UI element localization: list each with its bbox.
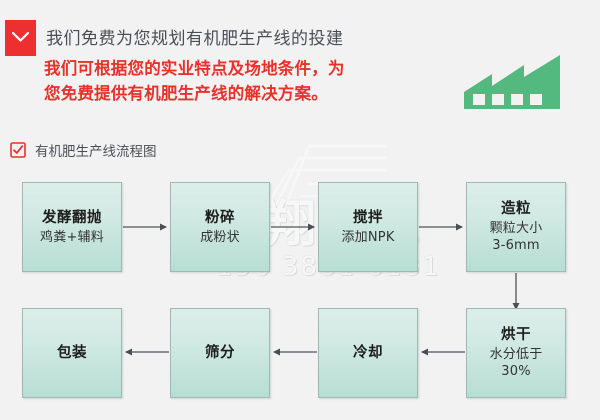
flow-node-fensui[interactable]: 粉碎 成粉状: [170, 182, 270, 272]
flow-node-sub: 颗粒大小: [490, 220, 543, 237]
flow-node-title: 筛分: [205, 344, 235, 363]
flow-node-sub2: 30%: [501, 363, 531, 380]
flow-node-baozhuang[interactable]: 包装: [22, 308, 122, 398]
flow-node-title: 搅拌: [353, 209, 383, 228]
flow-node-sub: 添加NPK: [341, 229, 394, 246]
flow-node-sub: 水分低于: [490, 346, 543, 363]
flow-node-title: 冷却: [353, 344, 383, 363]
flow-node-fajiao[interactable]: 发酵翻抛 鸡粪+辅料: [22, 182, 122, 272]
flowchart: 发酵翻抛 鸡粪+辅料 粉碎 成粉状 搅拌 添加NPK 造粒 颗粒大小 3-6mm…: [0, 0, 600, 420]
flow-node-title: 造粒: [501, 200, 531, 219]
flow-node-title: 烘干: [501, 326, 531, 345]
flow-node-shaifen[interactable]: 筛分: [170, 308, 270, 398]
flow-node-sub: 鸡粪+辅料: [40, 229, 104, 246]
flow-node-sub: 成粉状: [200, 229, 240, 246]
flow-node-zaoli[interactable]: 造粒 颗粒大小 3-6mm: [466, 182, 566, 272]
flow-node-title: 发酵翻抛: [42, 209, 102, 228]
flow-node-lengque[interactable]: 冷却: [318, 308, 418, 398]
flow-node-title: 粉碎: [205, 209, 235, 228]
flow-node-title: 包装: [57, 344, 87, 363]
flow-node-sub2: 3-6mm: [492, 237, 540, 254]
flow-node-hongan[interactable]: 烘干 水分低于 30%: [466, 308, 566, 398]
flow-node-jiaoban[interactable]: 搅拌 添加NPK: [318, 182, 418, 272]
page-root: 我们免费为您规划有机肥生产线的投建 我们可根据您的实业特点及场地条件，为 您免费…: [0, 0, 600, 420]
